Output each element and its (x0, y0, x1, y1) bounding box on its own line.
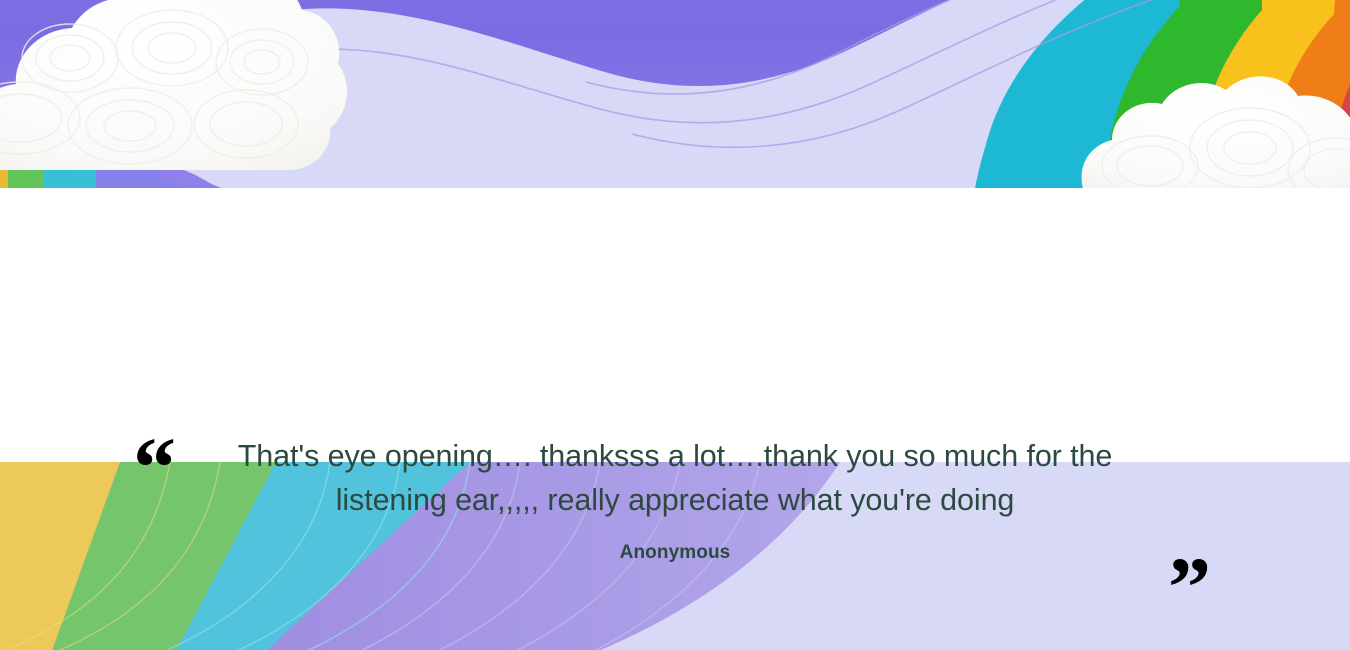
quote-text: That's eye opening…. thanksss a lot….tha… (225, 434, 1125, 522)
quote-author: Anonymous (225, 542, 1125, 564)
cloud-texture-strokes (0, 10, 308, 164)
top-left-rainbow-segment (0, 115, 64, 190)
top-rainbow-group (0, 0, 1350, 204)
top-left-cloud (0, 0, 347, 170)
top-purple-band (0, 0, 1110, 150)
poster-canvas: “ That's eye opening…. thanksss a lot….t… (0, 0, 1350, 650)
top-right-cloud (1082, 76, 1350, 202)
top-rainbow-stripes (974, 0, 1350, 204)
close-quote-icon: ” (1168, 544, 1209, 630)
quote-body: That's eye opening…. thanksss a lot….tha… (225, 434, 1125, 564)
quote-card: “ That's eye opening…. thanksss a lot….t… (0, 188, 1350, 462)
open-quote-icon: “ (133, 424, 174, 510)
